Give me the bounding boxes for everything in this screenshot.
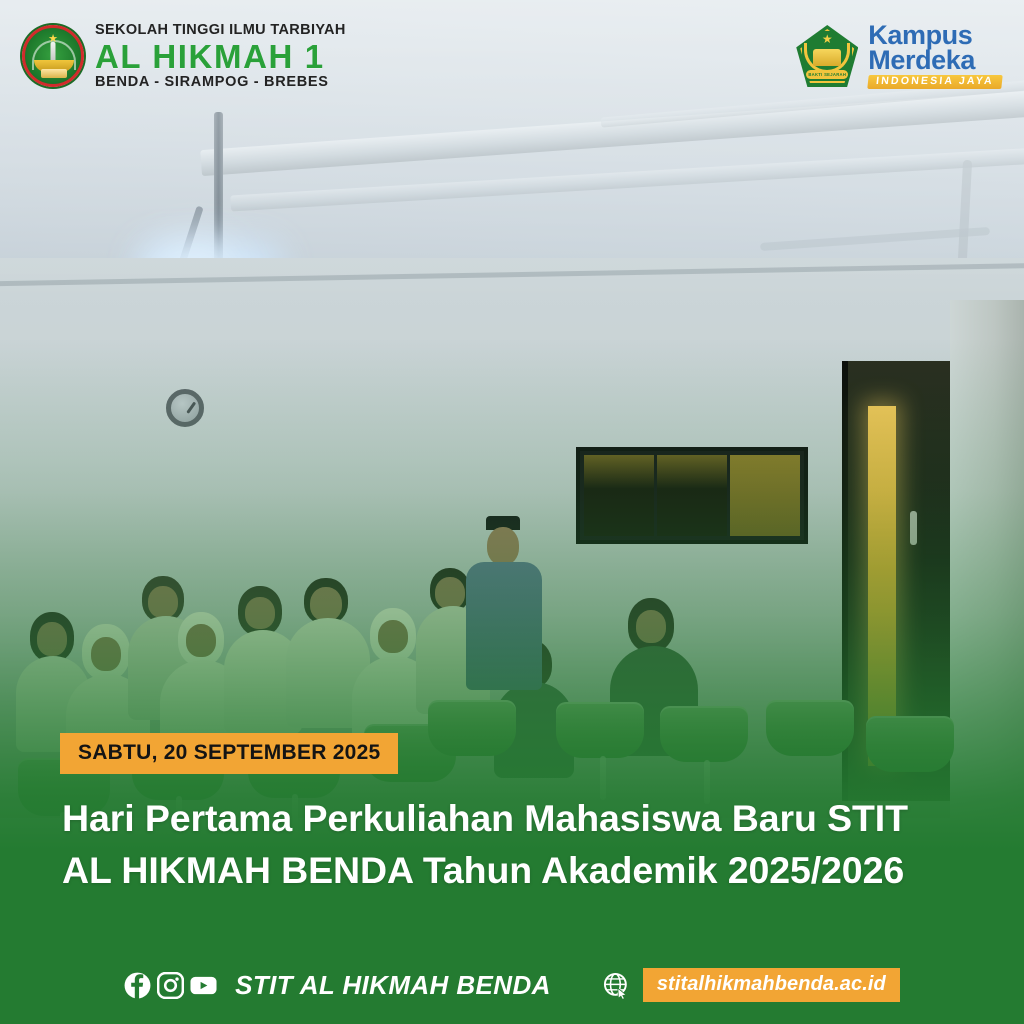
kampus-merdeka-ribbon: INDONESIA JAYA <box>868 75 1003 89</box>
instagram-icon[interactable] <box>157 972 184 999</box>
kemenag-ribbon-text: BAKTI SEJARAH <box>806 70 848 79</box>
kemenag-pentagon-icon: ★ BAKTI SEJARAH <box>796 25 858 87</box>
poster-title: Hari Pertama Perkuliahan Mahasiswa Baru … <box>62 793 942 897</box>
seal-book-icon <box>41 69 67 78</box>
institution-line-main: AL HIKMAH 1 <box>95 40 346 73</box>
social-media-group: STIT AL HIKMAH BENDA <box>124 970 551 1001</box>
institution-name-block: SEKOLAH TINGGI ILMU TARBIYAH AL HIKMAH 1… <box>95 23 346 89</box>
poster-footer: STIT AL HIKMAH BENDA stitalhikmahbenda.a… <box>0 946 1024 1024</box>
website-url-badge[interactable]: stitalhikmahbenda.ac.id <box>643 968 900 1002</box>
poster-canvas: ★ SEKOLAH TINGGI ILMU TARBIYAH AL HIKMAH… <box>0 0 1024 1024</box>
kampus-merdeka-branding: ★ BAKTI SEJARAH Kampus Merdeka INDONESIA… <box>796 23 1002 89</box>
kampus-merdeka-wordmark: Kampus Merdeka INDONESIA JAYA <box>868 23 1002 89</box>
poster-header: ★ SEKOLAH TINGGI ILMU TARBIYAH AL HIKMAH… <box>0 0 1024 112</box>
event-date-badge: SABTU, 20 SEPTEMBER 2025 <box>60 733 398 774</box>
institution-branding: ★ SEKOLAH TINGGI ILMU TARBIYAH AL HIKMAH… <box>22 23 346 89</box>
institution-line-top: SEKOLAH TINGGI ILMU TARBIYAH <box>95 23 346 38</box>
youtube-icon[interactable] <box>190 972 217 999</box>
social-icons <box>124 972 217 999</box>
facebook-icon[interactable] <box>124 972 151 999</box>
globe-cursor-icon <box>603 972 630 999</box>
website-group: stitalhikmahbenda.ac.id <box>603 968 900 1002</box>
kemenag-book-icon <box>813 49 841 66</box>
social-handle: STIT AL HIKMAH BENDA <box>235 970 551 1001</box>
kampus-merdeka-line2: Merdeka <box>868 48 1002 73</box>
institution-line-bottom: BENDA - SIRAMPOG - BREBES <box>95 75 346 90</box>
stit-al-hikmah-seal-icon: ★ <box>22 25 84 87</box>
